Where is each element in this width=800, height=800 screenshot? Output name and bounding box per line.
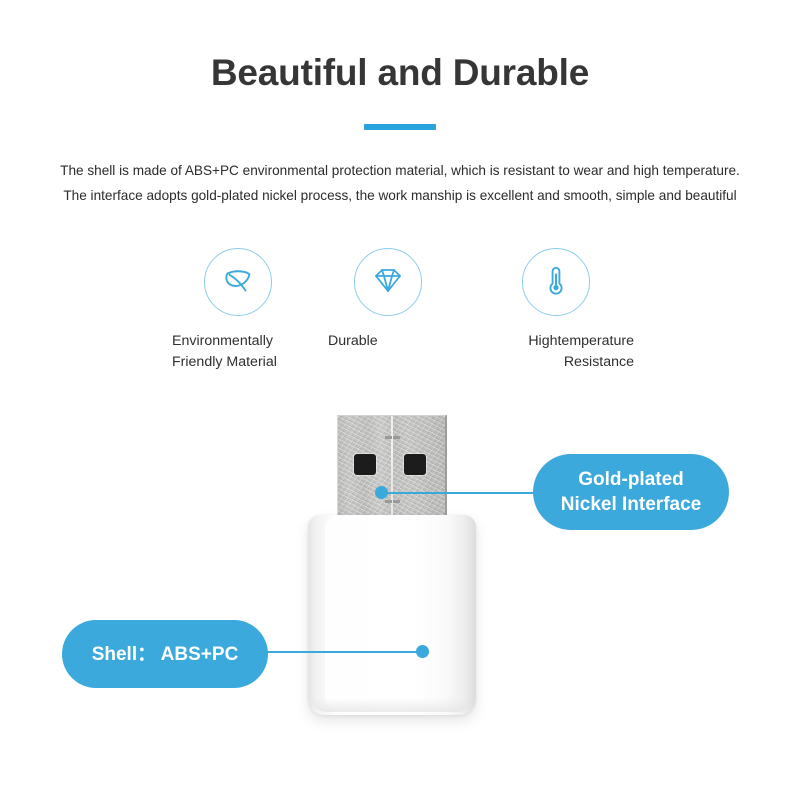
usb-connector-notch [393,436,400,439]
feature-icon-circle [204,248,272,316]
callout-shell-material: Shell： ABS+PC [62,620,268,688]
callout-line-1: Shell： ABS+PC [92,642,239,667]
feature-icon-circle [522,248,590,316]
product-infographic: Beautiful and Durable The shell is made … [0,0,800,800]
feature-item-environmentally-friendly: Environmentally Friendly Material [168,248,318,373]
intro-line-2: The interface adopts gold-plated nickel … [0,183,800,208]
intro-paragraph: The shell is made of ABS+PC environmenta… [0,158,800,208]
page-title: Beautiful and Durable [0,52,800,94]
feature-label: Environmentally Friendly Material [168,331,318,373]
feature-icon-circle [354,248,422,316]
feature-list: Environmentally Friendly Material Durabl… [168,248,638,383]
feature-label: Hightemperature Resistance [468,331,638,373]
callout-line-2: Nickel Interface [561,492,701,517]
feature-label-line-1: Hightemperature [468,331,634,352]
usb-connector-notch [393,500,400,503]
title-underline-rule [364,124,436,130]
callout-gold-plated-nickel-interface: Gold-plated Nickel Interface [533,454,729,530]
callout-leader-line-shell [264,651,422,653]
usb-connector-notch [385,500,392,503]
feature-label-line-1: Durable [328,331,448,352]
feature-label: Durable [328,331,448,352]
feature-label-line-2: Friendly Material [172,352,318,373]
usb-contact-pad-right [404,454,426,475]
usb-plastic-housing [308,515,476,715]
feature-label-line-2: Resistance [468,352,634,373]
feature-item-durable: Durable [328,248,448,352]
leaf-icon [220,262,256,303]
feature-label-line-1: Environmentally [172,331,318,352]
diamond-icon [370,262,406,303]
callout-leader-line-gold-plated [382,492,537,494]
callout-line-1: Gold-plated [561,467,701,492]
product-image-usb-flash-drive [290,398,510,728]
thermometer-icon [538,262,574,303]
housing-bottom-shading [312,698,472,712]
callout-anchor-dot-shell [416,645,429,658]
callout-anchor-dot-gold-plated [375,486,388,499]
usb-metal-connector [337,415,447,520]
usb-contact-pad-left [354,454,376,475]
intro-line-1: The shell is made of ABS+PC environmenta… [0,158,800,183]
feature-item-high-temperature-resistance: Hightemperature Resistance [468,248,638,373]
usb-connector-seam [391,416,393,520]
housing-highlight [325,517,369,709]
usb-connector-notch [385,436,392,439]
